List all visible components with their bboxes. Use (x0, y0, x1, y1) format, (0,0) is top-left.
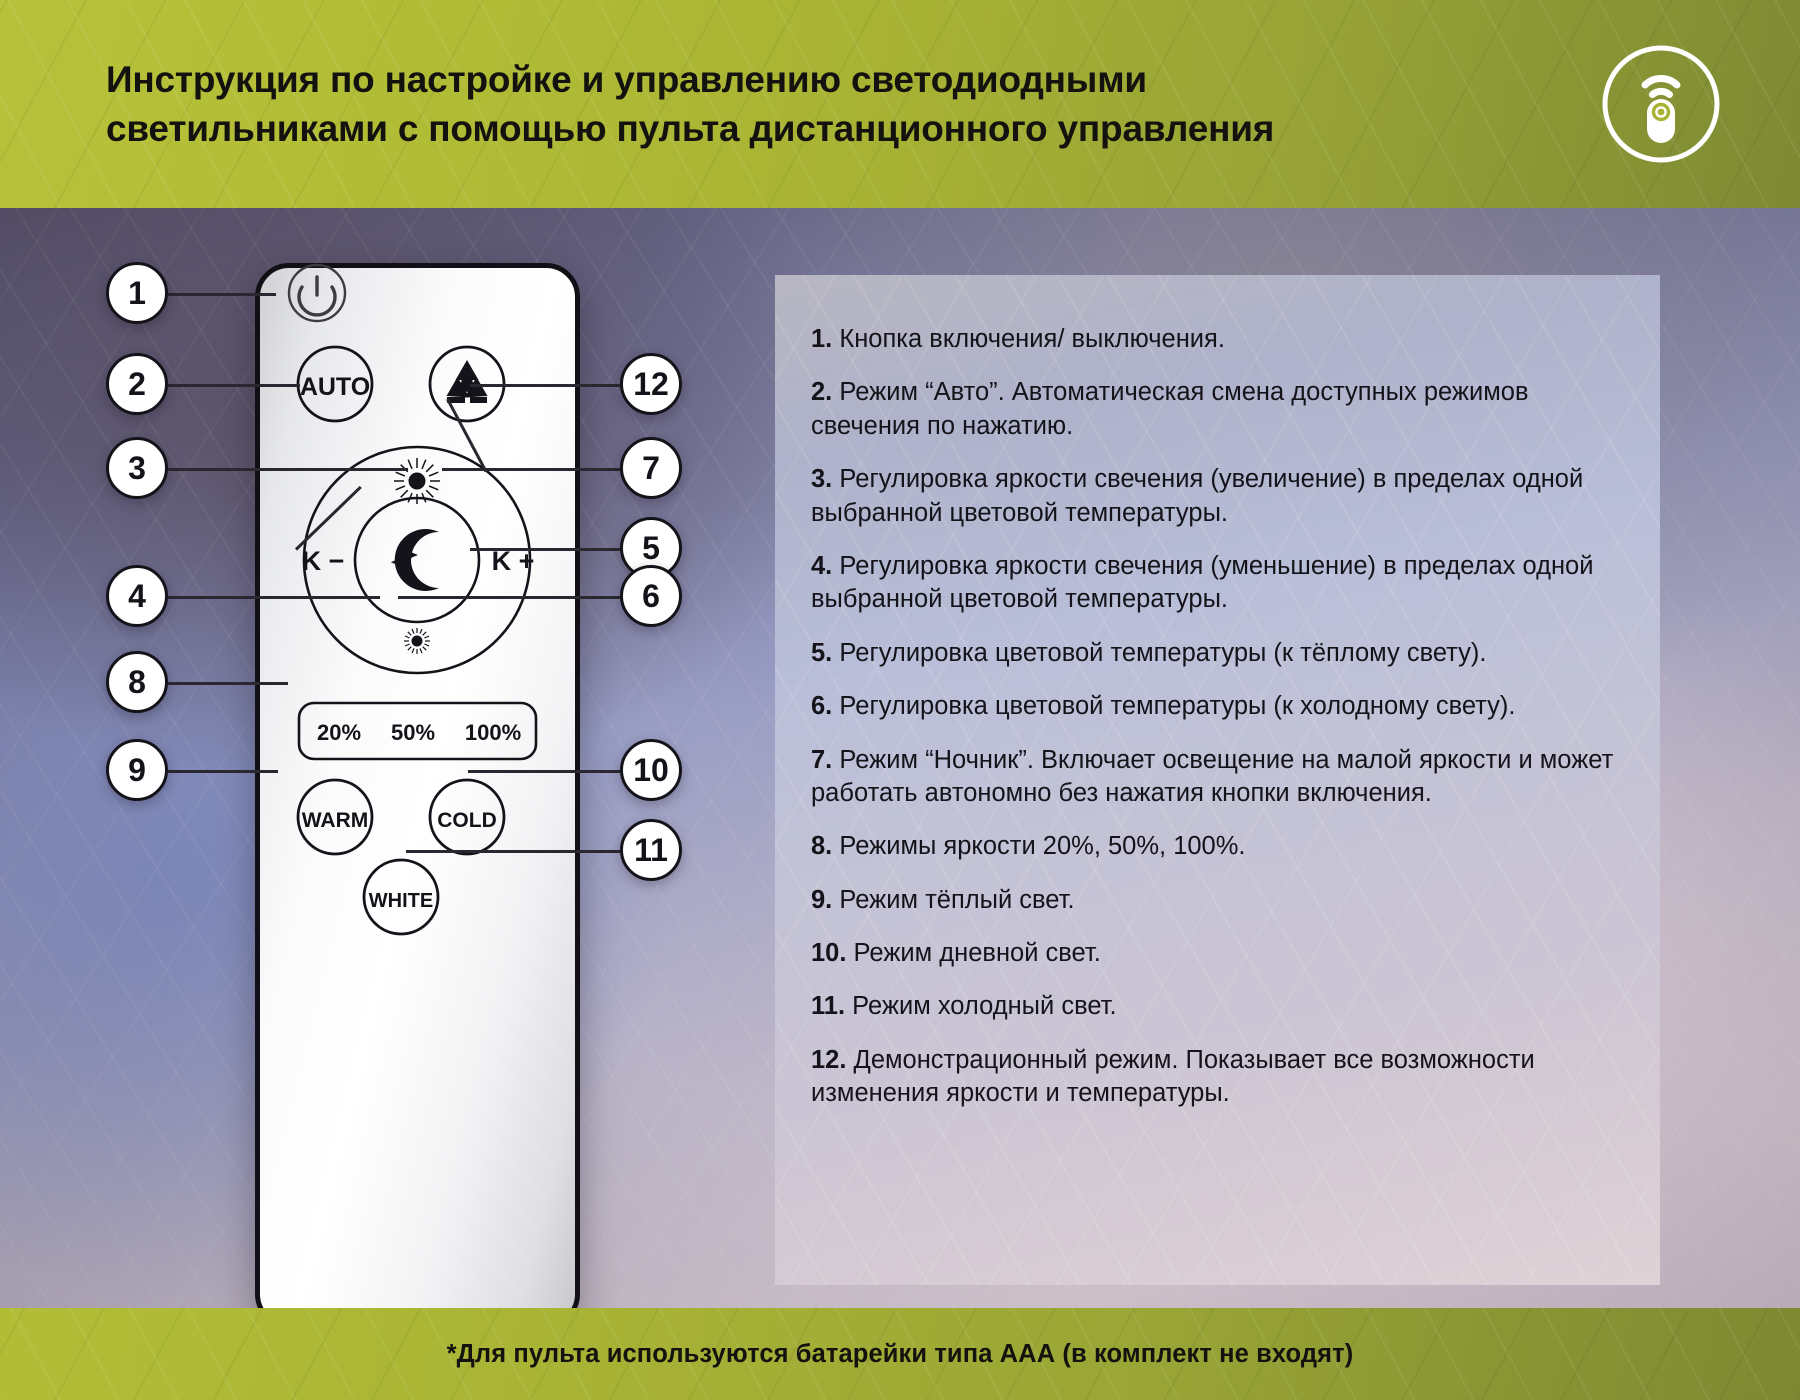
legend-item-text: Режим тёплый свет. (839, 886, 1074, 914)
callout-label: 3 (128, 450, 146, 487)
callout-label: 9 (128, 752, 146, 789)
recycle-loop-icon (447, 360, 488, 403)
legend-item-number: 1. (811, 325, 832, 353)
cold-button[interactable]: COLD (430, 780, 504, 854)
callout-badge-4[interactable]: 4 (106, 565, 168, 627)
control-dial[interactable]: K − K + (302, 447, 535, 673)
night-mode-button[interactable] (391, 529, 439, 591)
legend-item-text: Режим “Авто”. Автоматическая смена досту… (811, 378, 1529, 439)
legend-item-number: 12. (811, 1046, 846, 1074)
legend-item-number: 7. (811, 746, 832, 774)
callout-badge-9[interactable]: 9 (106, 739, 168, 801)
leader-line-1 (168, 293, 276, 296)
legend-item: 2. Режим “Авто”. Автоматическая смена до… (811, 376, 1632, 443)
legend-item: 9. Режим тёплый свет. (811, 884, 1632, 917)
sun-small-icon (404, 628, 430, 654)
leader-line-10 (468, 770, 620, 773)
legend-item-number: 5. (811, 639, 832, 667)
remote-face[interactable]: AUTO (255, 263, 580, 1328)
leader-line-12 (470, 384, 620, 387)
callout-label: 5 (642, 530, 660, 567)
callout-badge-8[interactable]: 8 (106, 651, 168, 713)
legend-item-number: 9. (811, 886, 832, 914)
callout-label: 2 (128, 366, 146, 403)
callout-badge-6[interactable]: 6 (620, 565, 682, 627)
legend-item: 10. Режим дневной свет. (811, 937, 1632, 970)
legend-item: 4. Регулировка яркости свечения (уменьше… (811, 550, 1632, 617)
callout-label: 8 (128, 664, 146, 701)
callout-badge-7[interactable]: 7 (620, 437, 682, 499)
callout-badge-11[interactable]: 11 (620, 819, 682, 881)
legend-item-number: 4. (811, 552, 832, 580)
white-button[interactable]: WHITE (364, 860, 438, 934)
leader-line-6 (398, 596, 620, 599)
callout-badge-10[interactable]: 10 (620, 739, 682, 801)
legend-item-number: 10. (811, 939, 846, 967)
svg-text:AUTO: AUTO (300, 373, 370, 401)
legend-item-text: Регулировка яркости свечения (уменьшение… (811, 552, 1593, 613)
leader-line-7 (442, 468, 620, 471)
power-icon (299, 277, 335, 315)
legend-item-text: Режимы яркости 20%, 50%, 100%. (839, 832, 1245, 860)
callout-badge-2[interactable]: 2 (106, 353, 168, 415)
legend-item: 5. Регулировка цветовой температуры (к т… (811, 637, 1632, 670)
legend-item-text: Режим холодный свет. (852, 992, 1116, 1020)
legend-item-number: 3. (811, 465, 832, 493)
svg-text:100%: 100% (465, 720, 521, 745)
legend-item: 1. Кнопка включения/ выключения. (811, 323, 1632, 356)
callout-badge-3[interactable]: 3 (106, 437, 168, 499)
footer-bar: *Для пульта используются батарейки типа … (0, 1308, 1800, 1400)
remote-control-signal-icon (1598, 41, 1724, 167)
legend-item-number: 11. (811, 992, 845, 1020)
brightness-up-button[interactable] (394, 458, 440, 504)
leader-line-3 (168, 468, 408, 471)
brightness-down-button[interactable] (404, 628, 430, 654)
callout-badge-1[interactable]: 1 (106, 262, 168, 324)
legend-item-text: Кнопка включения/ выключения. (839, 325, 1225, 353)
callout-label: 4 (128, 578, 146, 615)
infographic-page: Инструкция по настройке и управлению све… (0, 0, 1800, 1400)
brightness-modes-bar[interactable]: 20% 50% 100% (299, 703, 536, 759)
legend-item-number: 6. (811, 692, 832, 720)
svg-text:50%: 50% (391, 720, 435, 745)
callout-label: 7 (642, 450, 660, 487)
svg-text:WARM: WARM (302, 809, 369, 832)
legend-item-text: Регулировка цветовой температуры (к тёпл… (839, 639, 1486, 667)
header-bar: Инструкция по настройке и управлению све… (0, 0, 1800, 208)
svg-text:COLD: COLD (437, 809, 497, 832)
legend-item-text: Режим “Ночник”. Включает освещение на ма… (811, 746, 1613, 807)
leader-line-9 (168, 770, 278, 773)
legend-item: 8. Режимы яркости 20%, 50%, 100%. (811, 830, 1632, 863)
legend-item: 12. Демонстрационный режим. Показывает в… (811, 1044, 1632, 1111)
leader-line-11 (406, 850, 620, 853)
legend-item-text: Демонстрационный режим. Показывает все в… (811, 1046, 1535, 1107)
leader-line-2 (168, 384, 300, 387)
sun-large-icon (394, 458, 440, 504)
kelvin-minus-button: K − (302, 546, 345, 576)
callout-label: 6 (642, 578, 660, 615)
legend-item: 3. Регулировка яркости свечения (увеличе… (811, 463, 1632, 530)
warm-button[interactable]: WARM (298, 780, 372, 854)
legend-item: 6. Регулировка цветовой температуры (к х… (811, 690, 1632, 723)
legend-item-text: Регулировка яркости свечения (увеличение… (811, 465, 1583, 526)
battery-note: *Для пульта используются батарейки типа … (447, 1340, 1354, 1369)
header-content: Инструкция по настройке и управлению све… (0, 0, 1800, 208)
legend-item-number: 8. (811, 832, 832, 860)
power-button[interactable] (289, 265, 345, 321)
moon-stars-icon (391, 529, 439, 591)
leader-line-4 (168, 596, 380, 599)
svg-text:WHITE: WHITE (369, 890, 433, 912)
leader-line-8 (168, 682, 288, 685)
remote-control: AUTO (255, 263, 580, 1328)
callout-badge-12[interactable]: 12 (620, 353, 682, 415)
legend-item: 7. Режим “Ночник”. Включает освещение на… (811, 744, 1632, 811)
legend-panel: 1. Кнопка включения/ выключения. 2. Режи… (775, 275, 1660, 1285)
leader-line-5 (470, 548, 620, 551)
callout-label: 1 (128, 275, 146, 312)
callout-label: 10 (633, 752, 669, 789)
legend-item-text: Режим дневной свет. (854, 939, 1101, 967)
legend-item-number: 2. (811, 378, 832, 406)
page-title: Инструкция по настройке и управлению све… (106, 55, 1274, 153)
legend-item-text: Регулировка цветовой температуры (к холо… (839, 692, 1515, 720)
auto-button[interactable]: AUTO (298, 347, 372, 421)
svg-text:20%: 20% (317, 720, 361, 745)
legend-item: 11. Режим холодный свет. (811, 990, 1632, 1023)
main-content: AUTO (0, 208, 1800, 1360)
callout-label: 11 (634, 832, 668, 869)
callout-label: 12 (633, 366, 669, 403)
